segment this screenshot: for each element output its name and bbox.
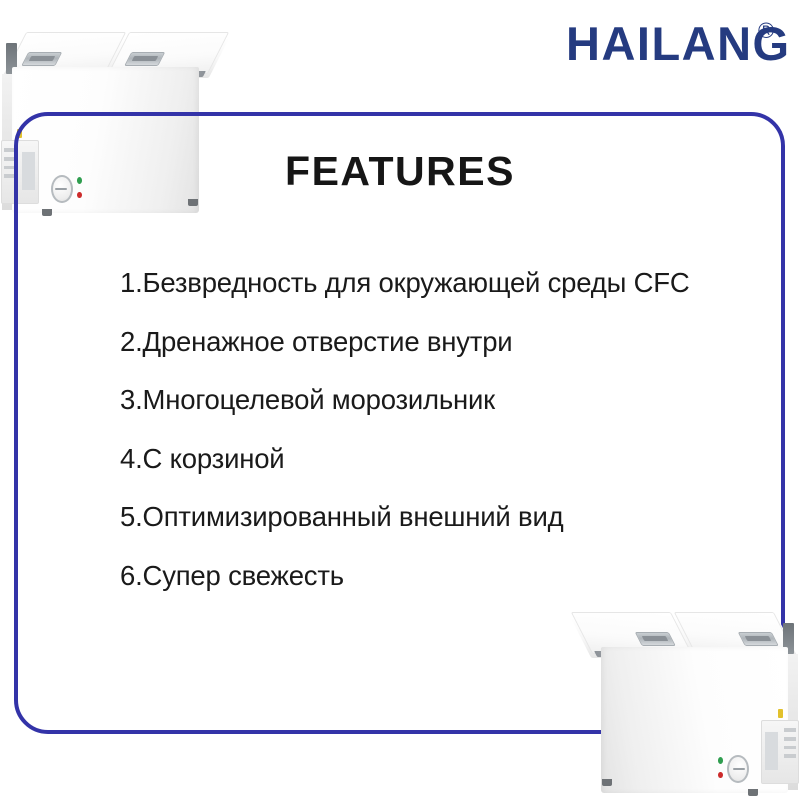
brand-logo-text: HAILANG [566,16,791,72]
chest-freezer-image-bottom-right [576,588,800,800]
list-item: 3.Многоцелевой морозильник [120,371,780,430]
freezer-handle-grip [28,56,55,61]
vent-slot [784,746,796,750]
list-item: 1.Безвредность для окружающей среды CFC [120,254,780,313]
registered-trademark-icon: ® [758,20,774,42]
vent-slot [784,728,796,732]
freezer-handle-grip [642,636,669,641]
freezer-power-led [718,757,723,764]
knob-needle [733,768,745,770]
list-item: 5.Оптимизированный внешний вид [120,488,780,547]
poster-canvas: HAILANG ® [0,0,800,800]
vent-slot [784,754,796,758]
freezer-warning-sticker [778,709,784,718]
freezer-compressor-vent [761,720,799,784]
freezer-handle-grip [131,56,158,61]
freezer-handle-right [635,632,676,646]
freezer-foot [748,789,758,796]
page-title: FEATURES [0,148,800,195]
freezer-handle-grip [745,636,772,641]
freezer-foot [602,779,612,786]
list-item: 4.С корзиной [120,430,780,489]
vent-grille [765,732,778,770]
freezer-illustration [576,588,800,800]
freezer-handle-right [124,52,165,66]
vent-slot [784,737,796,741]
freezer-handle-left [738,632,779,646]
list-item: 2.Дренажное отверстие внутри [120,313,780,372]
brand-logo: HAILANG ® [566,16,796,74]
features-list: 1.Безвредность для окружающей среды CFC … [120,254,780,605]
